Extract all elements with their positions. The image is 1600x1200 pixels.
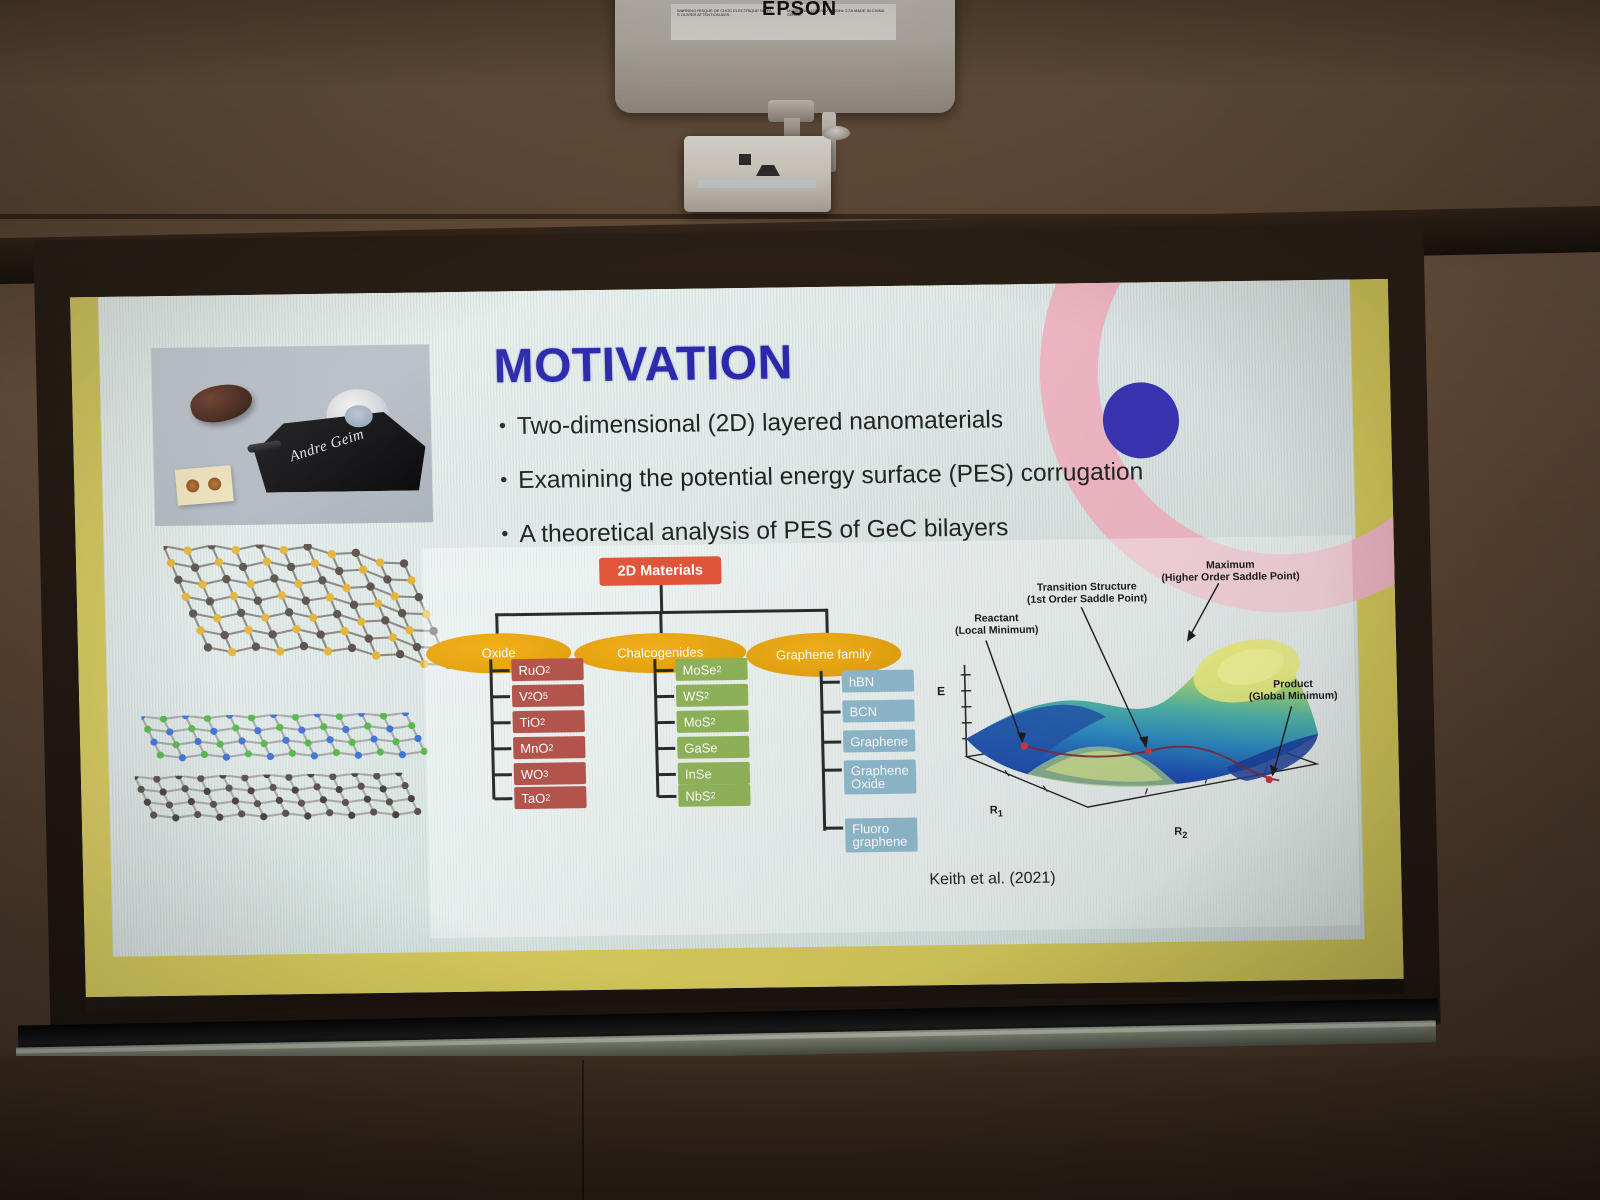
flow-tick xyxy=(657,721,675,724)
wall-scribble: 10/ xyxy=(0,488,43,512)
pes-axis-label-r2: R2 xyxy=(1174,826,1187,841)
flow-tick xyxy=(493,747,511,750)
projector-lens xyxy=(822,126,850,140)
projector-vent-strip xyxy=(698,180,816,188)
flow-tick xyxy=(657,747,675,750)
slide-white-body: MOTIVATION • Two-dimensional (2D) layere… xyxy=(98,279,1365,956)
flowchart-item: MoS2 xyxy=(676,710,748,733)
flow-tick xyxy=(658,773,676,776)
pes-axis-label-energy: E xyxy=(937,685,945,697)
flowchart-item: V2O5 xyxy=(512,684,584,707)
flowchart-item: Fluorographene xyxy=(845,817,918,852)
lower-wall-seam xyxy=(582,1060,584,1200)
bullet-item: • Examining the potential energy surface… xyxy=(500,456,1291,495)
presentation-slide: MOTIVATION • Two-dimensional (2D) layere… xyxy=(70,279,1404,997)
flow-tick xyxy=(822,681,840,684)
bullet-marker-icon: • xyxy=(499,413,518,439)
flowchart-item: TaO2 xyxy=(514,786,586,809)
flow-tick xyxy=(825,827,843,830)
lattice-diagram-graphene xyxy=(135,772,457,856)
content-panel: 2D Materials Oxide Chalcogenides Graphen… xyxy=(422,535,1361,938)
pes-label-product: Product (Global Minimum) xyxy=(1237,677,1350,703)
flowchart-item: MoSe2 xyxy=(675,658,747,681)
projector-warning-text: WARNING RISQUE DE CHOC ELECTRIQUE NE PAS… xyxy=(677,9,773,18)
pes-label-reactant: Reactant (Local Minimum) xyxy=(941,612,1052,638)
sample-spot xyxy=(208,477,222,491)
flow-spine xyxy=(820,671,826,831)
flowchart-item: GaSe xyxy=(677,736,749,759)
flow-spine xyxy=(653,659,659,797)
flow-tick xyxy=(494,773,512,776)
flowchart-item: BCN xyxy=(842,700,914,723)
slide-title: MOTIVATION xyxy=(493,335,793,394)
sample-spot xyxy=(186,479,200,493)
flowchart-item: TiO2 xyxy=(512,710,584,733)
graphite-lump xyxy=(187,379,256,428)
flow-tick xyxy=(493,721,511,724)
flow-tick xyxy=(656,669,674,672)
pes-citation: Keith et al. (2021) xyxy=(929,870,1056,890)
projector-icon-caution xyxy=(739,154,751,165)
sample-slide xyxy=(175,465,234,506)
flow-tick xyxy=(656,695,674,698)
flow-tick xyxy=(494,797,512,800)
flow-tick xyxy=(823,711,841,714)
flow-tick xyxy=(658,795,676,798)
flowchart-item: WO3 xyxy=(514,762,586,785)
flowchart-item: InSe xyxy=(678,762,750,785)
flowchart-item: hBN xyxy=(842,670,914,693)
pes-label-maximum: Maximum (Higher Order Saddle Point) xyxy=(1140,558,1321,585)
projector-brand-label: EPSON xyxy=(762,0,837,21)
projector-icon-warning-triangle xyxy=(756,154,780,176)
flowchart-item: GrapheneOxide xyxy=(844,760,917,795)
pes-axis-label-r1: R1 xyxy=(990,804,1003,819)
flow-connector xyxy=(659,611,662,635)
bullet-text: Two-dimensional (2D) layered nanomateria… xyxy=(517,406,1004,441)
bullet-marker-icon: • xyxy=(501,521,520,547)
flow-tick xyxy=(823,741,841,744)
bullet-marker-icon: • xyxy=(500,467,519,493)
flow-spine xyxy=(489,659,495,799)
flow-connector xyxy=(660,585,663,613)
room-lower-wall xyxy=(0,1056,1600,1200)
flowchart-item: WS2 xyxy=(676,684,748,707)
flow-tick xyxy=(491,669,509,672)
flow-tick xyxy=(492,695,510,698)
bullet-text: Examining the potential energy surface (… xyxy=(518,458,1144,495)
flowchart-item: Graphene xyxy=(843,730,915,753)
projector-body xyxy=(684,136,831,212)
flowchart-item: MnO2 xyxy=(513,736,585,759)
screenshot-root: 10/ WARNING RISQUE DE CHOC ELECTRIQUE NE… xyxy=(0,0,1600,1200)
flowchart-item: RuO2 xyxy=(511,658,583,681)
flowchart-root-node: 2D Materials xyxy=(599,556,722,586)
flow-tick xyxy=(824,769,842,772)
flowchart-2d-materials: 2D Materials Oxide Chalcogenides Graphen… xyxy=(432,541,931,938)
pes-surface-diagram: Reactant (Local Minimum) Transition Stru… xyxy=(922,542,1351,928)
projection-screen-surface: MOTIVATION • Two-dimensional (2D) layere… xyxy=(70,279,1404,1012)
graphite-tape-photo: Andre Geim xyxy=(151,344,433,526)
flowchart-item: NbS2 xyxy=(678,784,750,807)
